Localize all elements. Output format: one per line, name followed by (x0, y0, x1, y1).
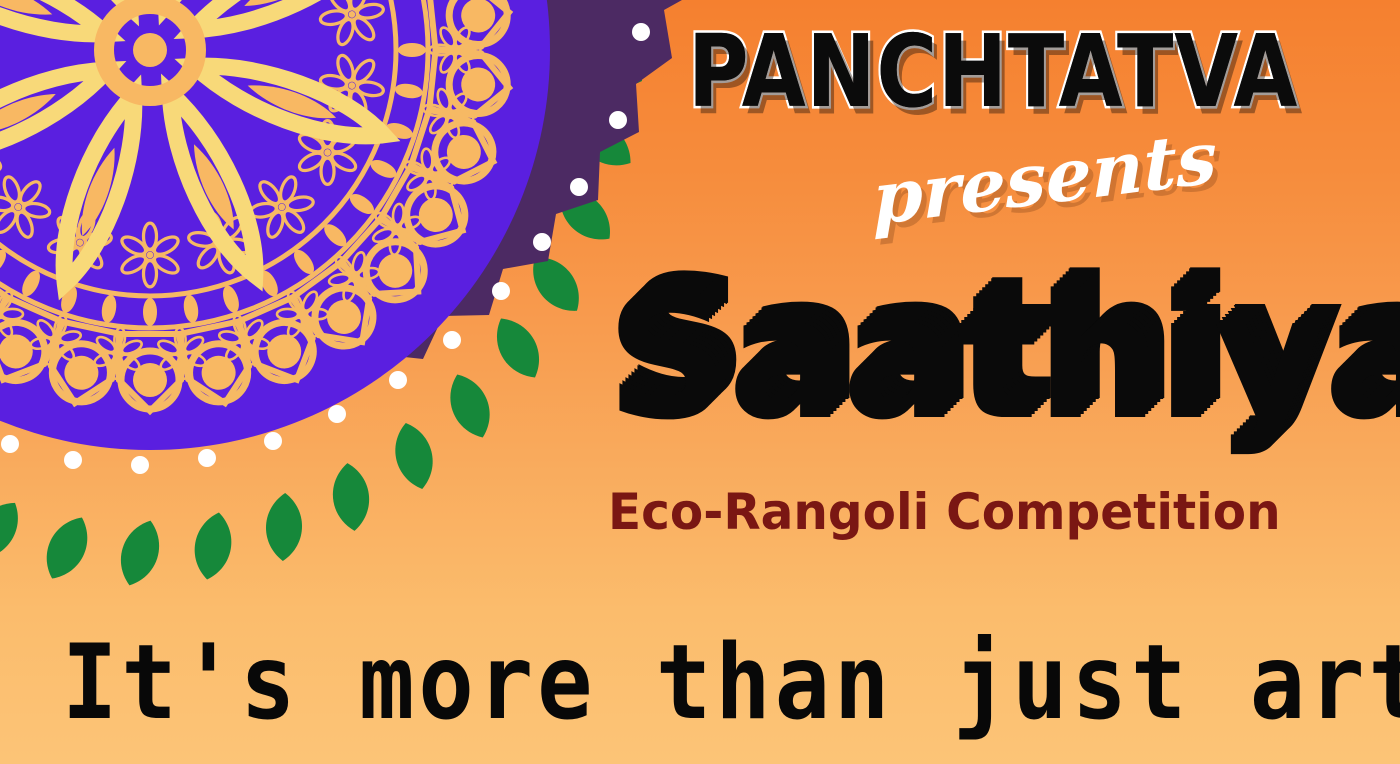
poster-text-layer: PANCHTATVA PANCHTATVA presents Saathiya … (0, 0, 1400, 764)
organization-title: PANCHTATVA (688, 22, 1298, 122)
event-subtitle: Eco-Rangoli Competition (608, 487, 1281, 537)
poster-canvas: PANCHTATVA PANCHTATVA presents Saathiya … (0, 0, 1400, 764)
event-name-title: Saathiya (606, 272, 1400, 444)
poster-tagline: It's more than just art... (62, 632, 1400, 735)
presents-label: presents (872, 121, 1217, 236)
